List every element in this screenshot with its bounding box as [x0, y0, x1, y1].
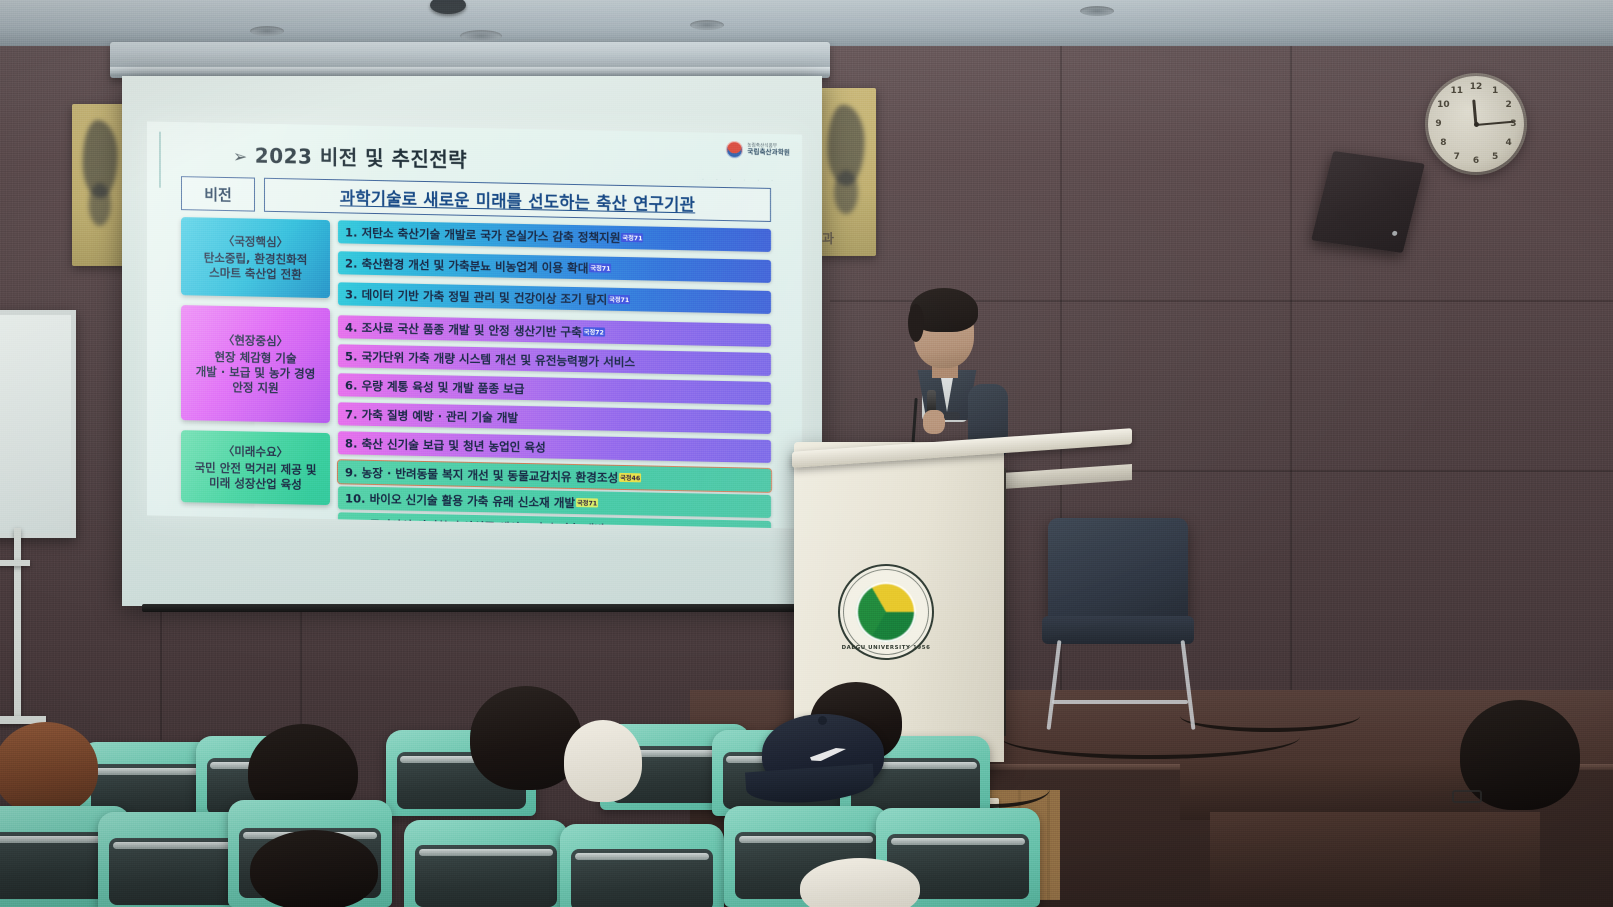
banner-caption-right: 과 [822, 228, 834, 247]
eyeglasses [1452, 790, 1482, 803]
item-superscript: 국정71 [608, 295, 630, 304]
item-text: 축산 신기술 보급 및 청년 농업인 육성 [362, 435, 546, 455]
presenter-hair-side [908, 304, 924, 342]
whiteboard-leg [14, 528, 21, 718]
slide-title-text: 2023 비전 및 추진전략 [255, 144, 467, 172]
slide-accent-line [159, 132, 161, 188]
strategy-item: 2. 축산환경 개선 및 가축분뇨 비농업계 이용 확대국정71 [338, 251, 771, 283]
item-text: 우량 계통 육성 및 개발 품종 보급 [362, 377, 525, 396]
category-box-field-centered: 〈현장중심〉 현장 체감형 기술개발 · 보급 및 농가 경영안정 지원 [181, 305, 330, 423]
category-title: 〈현장중심〉 [223, 332, 288, 349]
seat-rail [891, 838, 1025, 845]
stage-step [1180, 760, 1480, 820]
wall-banner-left [72, 104, 128, 266]
category-desc: 탄소중립, 환경친화적스마트 축산업 전환 [204, 251, 308, 283]
item-number: 1. [345, 225, 357, 239]
arrow-bullet-icon: ➢ [233, 147, 248, 167]
seat-rail [739, 836, 873, 843]
whiteboard [0, 310, 76, 538]
projector-screen-valance [110, 42, 830, 78]
item-number: 3. [345, 287, 357, 301]
taegeuk-icon [726, 141, 743, 158]
clock-number: 2 [1505, 100, 1511, 110]
strategy-items-column: 1. 저탄소 축산기술 개발로 국가 온실가스 감축 정책지원국정71 2. 축… [338, 220, 771, 514]
slide-body: 〈국정핵심〉 탄소중립, 환경친화적스마트 축산업 전환 〈현장중심〉 현장 체… [181, 217, 771, 514]
strategy-item: 1. 저탄소 축산기술 개발로 국가 온실가스 감축 정책지원국정71 [338, 220, 771, 252]
clock-minute-hand [1476, 121, 1514, 127]
item-text: 바이오 신기술 활용 가축 유래 신소재 개발 [370, 490, 576, 510]
floor-cable [1180, 700, 1360, 732]
vision-statement: 과학기술로 새로운 미래를 선도하는 축산 연구기관 [264, 178, 771, 222]
strategy-item: 5. 국가단위 가축 개량 시스템 개선 및 유전능력평가 서비스 [338, 344, 771, 376]
audience-seat [404, 820, 568, 907]
vision-tag: 비전 [181, 176, 255, 211]
clock-center-pin [1474, 122, 1479, 127]
item-superscript: 국정71 [621, 233, 643, 242]
strategy-item: 6. 우량 계통 육성 및 개발 품종 보급 [338, 373, 771, 405]
clock-number: 9 [1435, 119, 1441, 129]
clock-number: 1 [1492, 86, 1498, 96]
category-box-future-demand: 〈미래수요〉 국민 안전 먹거리 제공 및미래 성장산업 육성 [181, 430, 330, 505]
item-text: 저탄소 축산기술 개발로 국가 온실가스 감축 정책지원 [362, 224, 621, 245]
presentation-slide: ➢2023 비전 및 추진전략 농림축산식품부 국립축산과학원 · · · · … [147, 121, 802, 528]
slide-title: ➢2023 비전 및 추진전략 [233, 139, 467, 173]
strategy-item: 4. 조사료 국산 품종 개발 및 안정 생산기반 구축국정72 [338, 315, 771, 347]
vision-row: 비전 과학기술로 새로운 미래를 선도하는 축산 연구기관 [181, 176, 771, 222]
presenter-hand [923, 410, 945, 434]
university-seal: DAEGU UNIVERSITY 1956 [838, 564, 934, 660]
ceiling [0, 0, 1613, 46]
wall-seam [1290, 46, 1292, 746]
category-desc: 현장 체감형 기술개발 · 보급 및 농가 경영안정 지원 [196, 350, 316, 397]
item-superscript: 국정71 [589, 263, 611, 272]
clock-number: 8 [1440, 138, 1446, 148]
category-title: 〈국정핵심〉 [223, 233, 288, 250]
seat-rail [419, 849, 553, 856]
seat-rail [575, 853, 709, 860]
clock-number: 12 [1470, 82, 1483, 92]
item-number: 7. [345, 407, 357, 421]
ceiling-light [250, 26, 284, 36]
clock-number: 10 [1437, 100, 1450, 110]
slide-header-faint-text: · · · · · · [702, 177, 778, 186]
item-text: 축산환경 개선 및 가축분뇨 비농업계 이용 확대 [362, 255, 589, 276]
strategy-item: 7. 가축 질병 예방 · 관리 기술 개발 [338, 402, 771, 434]
chair-crossbar [1052, 700, 1188, 704]
audience-seat [560, 824, 724, 907]
wall-clock: 12 1 2 3 4 5 6 7 8 9 10 11 [1428, 76, 1524, 172]
seal-emblem-icon [856, 582, 916, 642]
clock-number: 4 [1505, 138, 1511, 148]
audience-head [0, 722, 98, 814]
item-text: 조사료 국산 품종 개발 및 안정 생산기반 구축 [362, 319, 582, 339]
item-text: 국가단위 가축 개량 시스템 개선 및 유전능력평가 서비스 [362, 348, 636, 369]
item-number: 6. [345, 378, 357, 392]
banner-artwork-secondary [89, 183, 111, 225]
banner-artwork-secondary [834, 170, 858, 214]
item-text: 가축 질병 예방 · 관리 기술 개발 [362, 406, 519, 425]
clock-number: 5 [1492, 152, 1498, 162]
government-logo-text: 농림축산식품부 국립축산과학원 [747, 144, 790, 156]
category-title: 〈미래수요〉 [223, 443, 288, 460]
item-number: 4. [345, 320, 357, 334]
audience-white-cap [564, 720, 642, 802]
item-superscript: 국정71 [576, 498, 598, 507]
item-number: 2. [345, 256, 357, 270]
ceiling-light [1080, 6, 1114, 16]
category-desc: 국민 안전 먹거리 제공 및미래 성장산업 육성 [195, 461, 317, 493]
stage-chair [1048, 518, 1188, 626]
item-number: 10. [345, 491, 366, 505]
item-number: 8. [345, 436, 357, 450]
category-box-national-core: 〈국정핵심〉 탄소중립, 환경친화적스마트 축산업 전환 [181, 217, 330, 298]
clock-number: 7 [1454, 152, 1460, 162]
item-text: 데이터 기반 가축 정밀 관리 및 건강이상 조기 탐지 [362, 286, 608, 307]
stage-step-lower [1210, 812, 1540, 907]
audience-head [250, 830, 378, 907]
clock-number: 6 [1473, 156, 1479, 166]
seal-label: DAEGU UNIVERSITY 1956 [840, 645, 932, 651]
strategy-item: 8. 축산 신기술 보급 및 청년 농업인 육성 [338, 431, 771, 463]
presenter-wristwatch [944, 412, 960, 420]
ceiling-light [690, 20, 724, 30]
whiteboard-crossbar [0, 560, 30, 566]
item-number: 9. [345, 465, 357, 479]
strategy-category-column: 〈국정핵심〉 탄소중립, 환경친화적스마트 축산업 전환 〈현장중심〉 현장 체… [181, 217, 330, 505]
speaker-indicator-icon [1392, 231, 1398, 237]
strategy-item: 3. 데이터 기반 가축 정밀 관리 및 건강이상 조기 탐지국정71 [338, 282, 771, 314]
screen-bottom-bar [142, 604, 802, 612]
lecture-hall-photo: 과 12 1 2 3 4 5 6 7 8 9 10 11 ➢2023 비전 및 … [0, 0, 1613, 907]
government-logo: 농림축산식품부 국립축산과학원 [726, 141, 790, 159]
item-superscript: 국정72 [583, 327, 605, 336]
ceiling-light [460, 30, 502, 42]
item-text: 농장 · 반려동물 복지 개선 및 동물교감치유 환경조성 [362, 464, 619, 485]
institute-name: 국립축산과학원 [747, 149, 790, 157]
item-number: 5. [345, 349, 357, 363]
item-superscript: 국정46 [619, 473, 641, 482]
stage-chair-seat [1042, 616, 1194, 644]
clock-number: 11 [1451, 86, 1464, 96]
cap-button [818, 716, 827, 725]
